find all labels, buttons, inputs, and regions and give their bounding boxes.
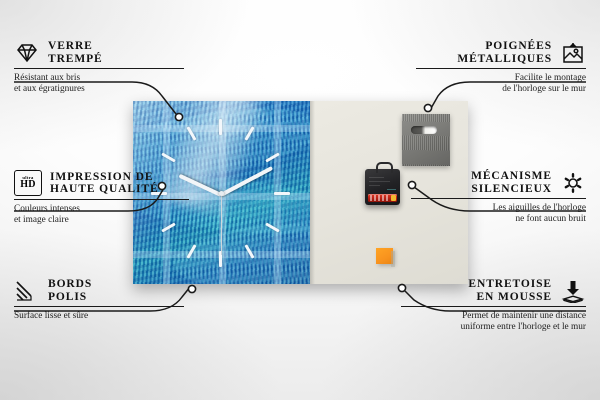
callout-subtitle-line1: Facilite le montage [515, 73, 586, 83]
callout-subtitle-line2: uniforme entre l'horloge et le mur [461, 322, 586, 332]
polished-edges-icon [14, 279, 40, 303]
callout-subtitle-line1: Résistant aux bris [14, 73, 80, 83]
callout-subtitle-line2: et aux égratignures [14, 84, 85, 94]
callout-title-line1: BORDS [48, 278, 92, 290]
gear-icon [560, 171, 586, 195]
callout-title-line2: EN MOUSSE [476, 291, 552, 303]
clock-battery [368, 194, 397, 202]
callout-rule [14, 68, 184, 69]
mechanism-hanging-loop [376, 162, 393, 173]
callout-title-line2: MÉTALLIQUES [457, 53, 552, 65]
callout-title-line2: HAUTE QUALITÉ [50, 183, 159, 195]
hanging-frame-icon [560, 41, 586, 65]
callout-title-line2: SILENCIEUX [471, 183, 552, 195]
callout-entretoise-en-mousse[interactable]: ENTRETOISE EN MOUSSE Permet de maintenir… [401, 278, 586, 333]
battery-label [370, 195, 389, 201]
mechanism-detail [369, 181, 390, 182]
callout-poignees-metalliques[interactable]: POIGNÉES MÉTALLIQUES Facilite le montage… [416, 40, 586, 95]
callout-title-line2: TREMPÉ [48, 53, 103, 65]
callout-subtitle-line2: ne font aucun bruit [516, 214, 586, 224]
callout-title-line1: POIGNÉES [485, 40, 552, 52]
callout-subtitle-line1: Surface lisse et sûre [14, 311, 88, 321]
callout-title-line1: MÉCANISME [471, 170, 552, 182]
callout-title-line1: ENTRETOISE [468, 278, 552, 290]
callout-subtitle-line1: Couleurs intenses [14, 204, 80, 214]
callout-rule [401, 306, 586, 307]
callout-impression-haute-qualite[interactable]: ultra HD IMPRESSION DE HAUTE QUALITÉ Cou… [14, 170, 189, 226]
foam-spacer-icon [560, 279, 586, 303]
mechanism-detail [387, 189, 396, 190]
callout-rule [416, 68, 586, 69]
hanger-keyhole-slot [411, 126, 437, 134]
clock-tick [274, 192, 290, 195]
clock-mechanism [365, 169, 400, 205]
ultra-hd-icon-bottom: HD [20, 180, 36, 190]
callout-rule [14, 306, 184, 307]
callout-verre-trempe[interactable]: VERRE TREMPÉ Résistant aux bris et aux é… [14, 40, 184, 95]
callout-title-line2: POLIS [48, 291, 87, 303]
callout-title-line1: IMPRESSION DE [50, 171, 153, 183]
callout-rule [14, 199, 189, 200]
infographic-canvas: VERRE TREMPÉ Résistant aux bris et aux é… [0, 0, 600, 400]
endpoint-bords-polis [188, 285, 195, 292]
callout-mecanisme-silencieux[interactable]: MÉCANISME SILENCIEUX Les aiguilles de l'… [411, 170, 586, 225]
callout-bords-polis[interactable]: BORDS POLIS Surface lisse et sûre [14, 278, 184, 322]
ultra-hd-icon: ultra HD [14, 170, 42, 196]
metal-hanger-plate [402, 114, 450, 166]
clock-tick [219, 119, 222, 135]
mechanism-detail [369, 185, 380, 186]
callout-title-line1: VERRE [48, 40, 93, 52]
clock-second-hand [221, 193, 222, 255]
callout-subtitle-line1: Les aiguilles de l'horloge [493, 203, 586, 213]
callout-subtitle-line2: et image claire [14, 215, 69, 225]
foam-spacer [376, 248, 393, 264]
callout-subtitle-line1: Permet de maintenir une distance [462, 311, 586, 321]
clock-hub [219, 191, 224, 196]
callout-rule [411, 198, 586, 199]
mechanism-detail [369, 177, 384, 178]
diamond-icon [14, 41, 40, 65]
callout-subtitle-line2: de l'horloge sur le mur [502, 84, 586, 94]
